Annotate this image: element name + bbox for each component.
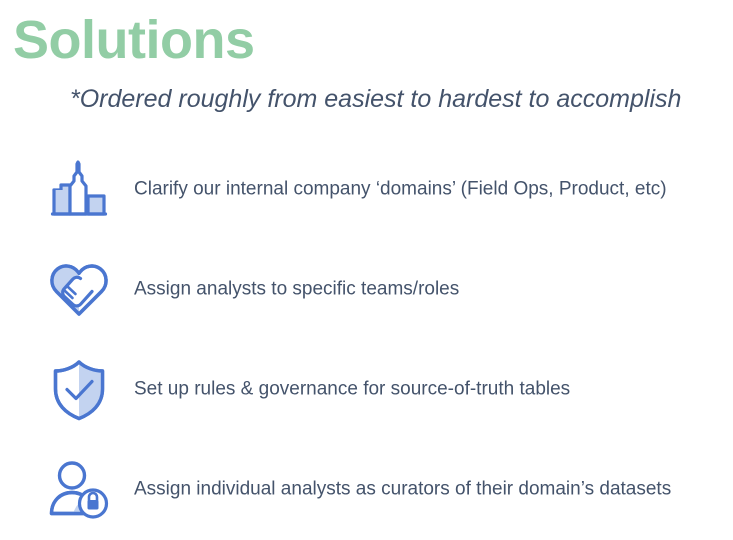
solutions-list: Clarify our internal company ‘domains’ (… <box>0 140 733 540</box>
list-item: Set up rules & governance for source-of-… <box>0 340 733 440</box>
solutions-slide: Solutions *Ordered roughly from easiest … <box>0 0 733 516</box>
list-item-label: Assign analysts to specific teams/roles <box>134 278 459 303</box>
list-item: Assign analysts to specific teams/roles <box>0 240 733 340</box>
heart-handshake-icon <box>48 259 110 321</box>
list-item: Clarify our internal company ‘domains’ (… <box>0 140 733 240</box>
user-lock-icon <box>48 459 110 521</box>
page-subtitle: *Ordered roughly from easiest to hardest… <box>70 85 681 114</box>
list-item-label: Set up rules & governance for source-of-… <box>134 378 570 403</box>
shield-check-icon <box>48 359 110 421</box>
list-item: Assign individual analysts as curators o… <box>0 440 733 540</box>
list-item-label: Assign individual analysts as curators o… <box>134 478 671 503</box>
page-title: Solutions <box>13 9 254 71</box>
list-item-label: Clarify our internal company ‘domains’ (… <box>134 178 667 203</box>
city-buildings-icon <box>48 159 110 221</box>
